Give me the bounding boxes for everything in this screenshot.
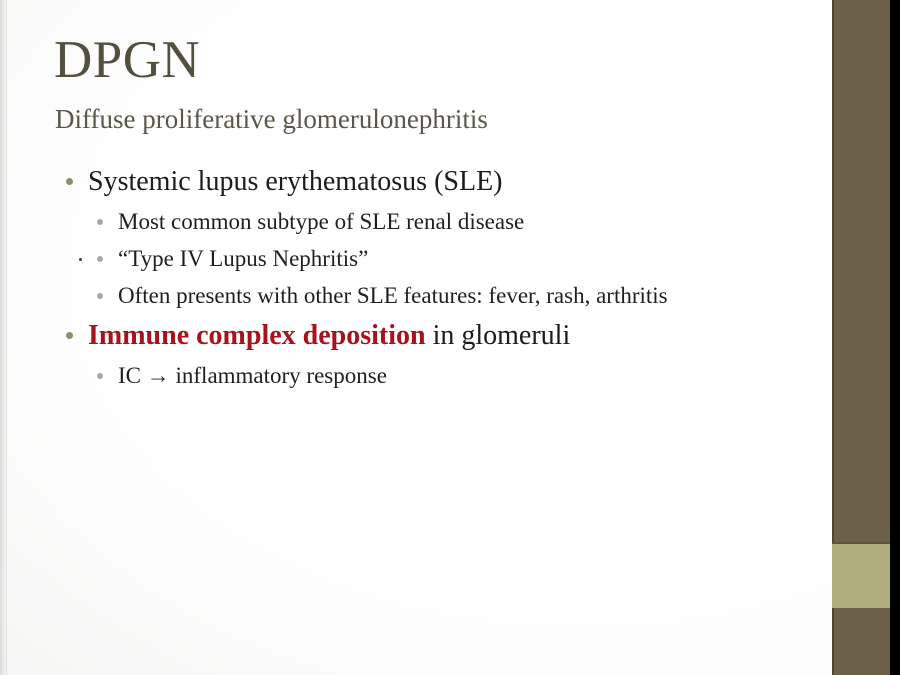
bullet-dot-icon: [97, 219, 103, 225]
bullet-dot-icon: [66, 178, 73, 185]
list-item-label: Most common subtype of SLE renal disease: [118, 209, 524, 234]
bullet-dot-icon: [97, 373, 103, 379]
bullet-dot-icon: [97, 293, 103, 299]
list-item: IC → inflammatory response: [0, 357, 800, 394]
list-item: Often presents with other SLE features: …: [0, 277, 800, 314]
list-item-label: “Type IV Lupus Nephritis”: [118, 246, 368, 271]
list-item: Systemic lupus erythematosus (SLE): [0, 160, 800, 203]
list-item-emphasis: Immune complex deposition: [88, 320, 426, 351]
slide-body: Systemic lupus erythematosus (SLE) Most …: [0, 160, 800, 394]
page-subtitle: Diffuse proliferative glomerulonephritis: [55, 104, 488, 135]
bullet-dot-icon: [97, 256, 103, 262]
list-item-label: Often presents with other SLE features: …: [118, 283, 668, 308]
page-title: DPGN: [54, 33, 200, 89]
bullet-dot-icon: [66, 332, 73, 339]
letterbox-right: [890, 0, 900, 675]
list-item-label: Systemic lupus erythematosus (SLE): [88, 166, 503, 197]
presentation-slide: DPGN Diffuse proliferative glomeruloneph…: [0, 0, 900, 675]
list-item: Most common subtype of SLE renal disease: [0, 203, 800, 240]
list-item-label: in glomeruli: [426, 320, 571, 351]
list-item-label: IC → inflammatory response: [118, 363, 387, 388]
sidebar-accent-block: [832, 542, 890, 608]
list-item: Immune complex deposition in glomeruli: [0, 314, 800, 357]
list-item: “Type IV Lupus Nephritis”: [0, 240, 800, 277]
